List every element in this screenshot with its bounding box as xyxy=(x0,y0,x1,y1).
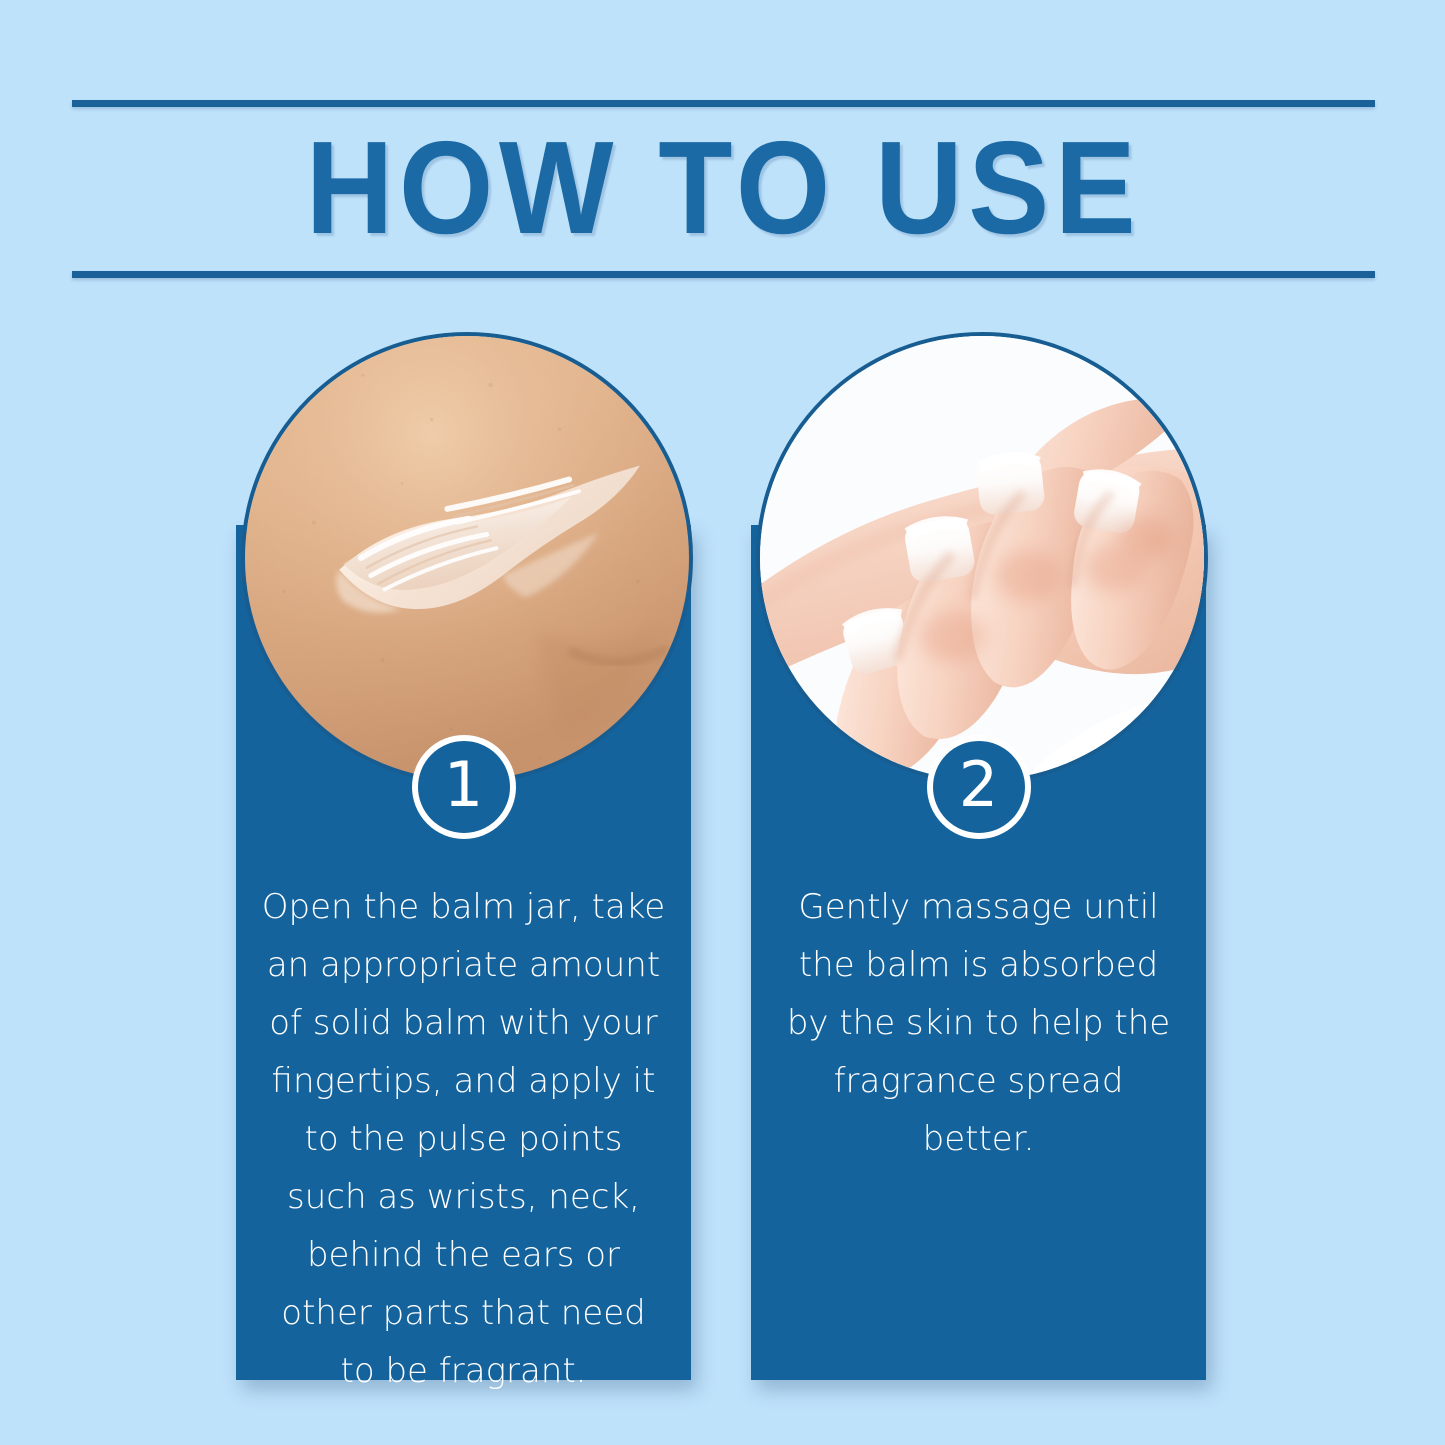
title-rule-top xyxy=(72,100,1375,107)
steps-container: 1 Open the balm jar, take an appropriate… xyxy=(236,330,1206,1390)
step-number-1: 1 xyxy=(444,754,483,820)
hand-massaging-forearm-photo xyxy=(756,332,1208,784)
step-description-2: Gently massage until the balm is absorbe… xyxy=(775,878,1182,1168)
step-number-2: 2 xyxy=(959,754,998,820)
step-card-2: 2 Gently massage until the balm is absor… xyxy=(751,330,1206,1380)
step-card-1: 1 Open the balm jar, take an appropriate… xyxy=(236,330,691,1380)
step-description-1: Open the balm jar, take an appropriate a… xyxy=(260,878,667,1400)
how-to-use-infographic: HOW TO USE xyxy=(0,0,1445,1445)
cream-smear-on-skin-photo xyxy=(241,332,693,784)
title-rule-bottom xyxy=(72,271,1375,278)
step-number-badge-2: 2 xyxy=(927,735,1031,839)
step-number-badge-1: 1 xyxy=(412,735,516,839)
page-title: HOW TO USE xyxy=(124,107,1323,271)
title-block: HOW TO USE xyxy=(72,100,1375,278)
